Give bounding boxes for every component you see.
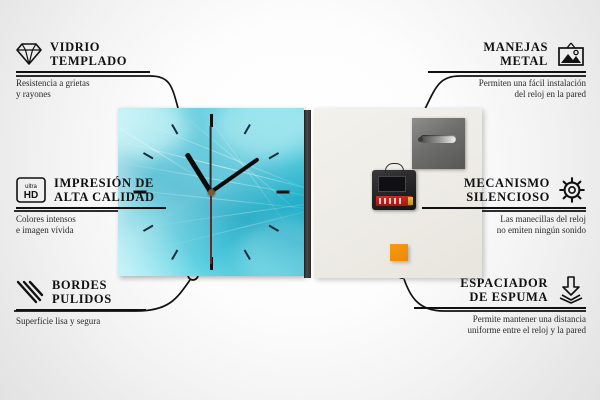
- feature-title-line2: ALTA CALIDAD: [54, 190, 155, 204]
- feature-rule: [16, 309, 146, 311]
- feature-rule: [16, 71, 150, 73]
- feature-sub-line2: y rayones: [16, 89, 196, 100]
- gear-icon: [558, 176, 586, 204]
- clock-second-hand-tail: [210, 126, 212, 192]
- clock-minute-hand: [210, 157, 260, 194]
- feature-title-line2: DE ESPUMA: [460, 290, 548, 304]
- polished-edges-icon: [16, 280, 44, 304]
- feature-rule: [428, 71, 586, 73]
- clock-second-hand: [210, 192, 212, 264]
- feature-mecanismo-silencioso: MECANISMO SILENCIOSO Las manecillas del …: [391, 176, 586, 236]
- feature-manejas-metal: MANEJAS METAL Permiten una fácil instala…: [396, 40, 586, 100]
- feature-sub-line1: Permiten una fácil instalación: [396, 78, 586, 89]
- feature-title-line1: BORDES: [52, 278, 112, 292]
- feature-sub-line2: uniforme entre el reloj y la pared: [386, 325, 586, 336]
- feature-sub-line2: no emiten ningún sonido: [391, 225, 586, 236]
- feature-sub-line1: Superficie lisa y segura: [16, 316, 206, 327]
- feature-title-line1: MECANISMO: [464, 176, 550, 190]
- feature-title-line2: SILENCIOSO: [464, 190, 550, 204]
- feature-title-line2: METAL: [483, 54, 548, 68]
- metal-wall-hanger: [412, 118, 465, 169]
- clock-side-edge: [304, 110, 311, 278]
- feature-rule: [414, 307, 586, 309]
- feature-title-line2: PULIDOS: [52, 292, 112, 306]
- feature-sub-line2: del reloj en la pared: [396, 89, 586, 100]
- feature-sub-line2: e imagen vívida: [16, 225, 206, 236]
- feature-title-line1: VIDRIO: [50, 40, 127, 54]
- wall-frame-icon: [556, 41, 586, 67]
- foam-spacer: [390, 244, 408, 261]
- feature-title-line1: MANEJAS: [483, 40, 548, 54]
- feature-espaciador-de-espuma: ESPACIADOR DE ESPUMA Permite mantener un…: [386, 276, 586, 336]
- diamond-icon: [16, 42, 42, 66]
- feature-rule: [422, 207, 586, 209]
- feature-title-line2: TEMPLADO: [50, 54, 127, 68]
- ultra-hd-icon: ultra HD: [16, 177, 46, 203]
- svg-text:HD: HD: [24, 190, 38, 201]
- clock-center-cap: [208, 189, 215, 196]
- feature-sub-line1: Permite mantener una distancia: [386, 314, 586, 325]
- feature-sub-line1: Las manecillas del reloj: [391, 214, 586, 225]
- feature-vidrio-templado: VIDRIO TEMPLADO Resistencia a grietas y …: [16, 40, 196, 100]
- feature-sub-line1: Colores intensos: [16, 214, 206, 225]
- feature-sub-line1: Resistencia a grietas: [16, 78, 196, 89]
- feature-title-line1: ESPACIADOR: [460, 276, 548, 290]
- feature-rule: [16, 207, 166, 209]
- foam-spacer-icon: [556, 276, 586, 304]
- feature-title-line1: IMPRESIÓN DE: [54, 176, 155, 190]
- feature-bordes-pulidos: BORDES PULIDOS Superficie lisa y segura: [16, 278, 206, 327]
- feature-impresion-alta-calidad: ultra HD IMPRESIÓN DE ALTA CALIDAD Color…: [16, 176, 206, 236]
- infographic-canvas: VIDRIO TEMPLADO Resistencia a grietas y …: [0, 0, 600, 400]
